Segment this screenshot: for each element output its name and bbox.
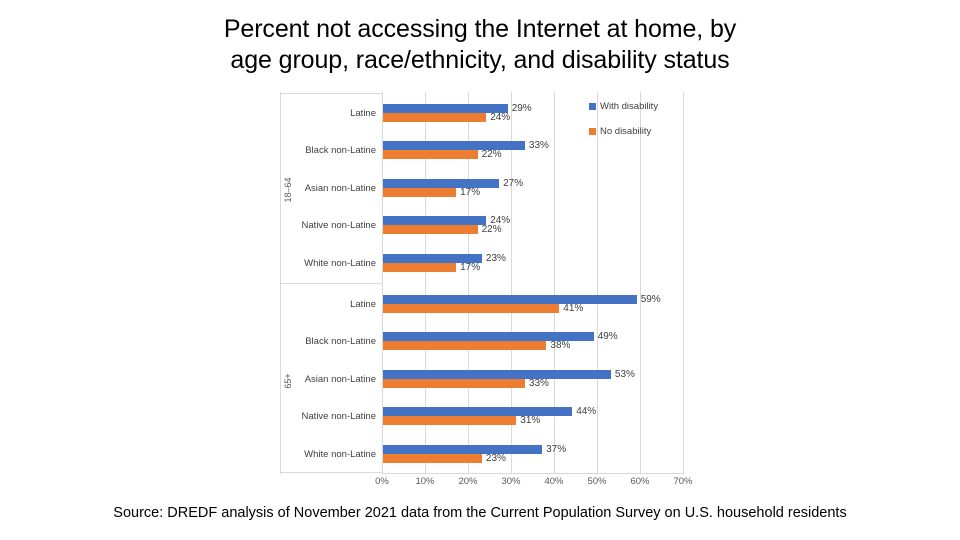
x-tick-label: 30% bbox=[501, 476, 520, 487]
bar-value-label: 17% bbox=[460, 187, 480, 198]
bar bbox=[383, 104, 508, 113]
bar-value-label: 49% bbox=[598, 331, 618, 342]
bar bbox=[383, 304, 559, 313]
bar-value-label: 37% bbox=[546, 444, 566, 455]
bar bbox=[383, 216, 486, 225]
bar-value-label: 33% bbox=[529, 378, 549, 389]
x-tick-label: 0% bbox=[375, 476, 389, 487]
category-label: Asian non-Latine bbox=[305, 374, 376, 385]
value-axis-ticks: 0%10%20%30%40%50%60%70% bbox=[382, 476, 683, 492]
legend-item[interactable]: With disability bbox=[589, 101, 699, 112]
group-label: 65+ bbox=[283, 373, 293, 388]
category-label: Black non-Latine bbox=[305, 145, 376, 156]
category-label: Latine bbox=[350, 299, 376, 310]
x-tick-label: 50% bbox=[587, 476, 606, 487]
legend-label: No disability bbox=[600, 126, 651, 137]
chart-legend: With disabilityNo disability bbox=[589, 101, 699, 151]
gridline-40 bbox=[554, 92, 555, 474]
bar bbox=[383, 341, 546, 350]
bar bbox=[383, 370, 611, 379]
x-tick-label: 60% bbox=[630, 476, 649, 487]
category-label: Native non-Latine bbox=[302, 220, 376, 231]
bar bbox=[383, 225, 478, 234]
page-title: Percent not accessing the Internet at ho… bbox=[0, 14, 960, 76]
bar bbox=[383, 113, 486, 122]
category-label: White non-Latine bbox=[304, 258, 376, 269]
bar bbox=[383, 150, 478, 159]
bar bbox=[383, 188, 456, 197]
bar-value-label: 31% bbox=[520, 415, 540, 426]
category-label: Asian non-Latine bbox=[305, 183, 376, 194]
bar-value-label: 27% bbox=[503, 178, 523, 189]
bar-value-label: 22% bbox=[482, 149, 502, 160]
bar-value-label: 44% bbox=[576, 406, 596, 417]
category-label: Native non-Latine bbox=[302, 411, 376, 422]
bar bbox=[383, 263, 456, 272]
bar bbox=[383, 379, 525, 388]
x-tick-label: 70% bbox=[673, 476, 692, 487]
bar-value-label: 24% bbox=[490, 112, 510, 123]
legend-label: With disability bbox=[600, 101, 658, 112]
bar-value-label: 29% bbox=[512, 103, 532, 114]
bar-value-label: 17% bbox=[460, 262, 480, 273]
group-separator-top bbox=[280, 93, 382, 94]
page-title-line-1: Percent not accessing the Internet at ho… bbox=[0, 14, 960, 45]
bar bbox=[383, 179, 499, 188]
source-note: Source: DREDF analysis of November 2021 … bbox=[0, 505, 960, 521]
bar bbox=[383, 416, 516, 425]
group-separator-middle bbox=[280, 283, 382, 284]
bar-value-label: 23% bbox=[486, 253, 506, 264]
x-tick-label: 40% bbox=[544, 476, 563, 487]
bar-value-label: 23% bbox=[486, 453, 506, 464]
category-label: Black non-Latine bbox=[305, 336, 376, 347]
bar bbox=[383, 141, 525, 150]
legend-swatch-icon bbox=[589, 128, 596, 135]
x-tick-label: 20% bbox=[458, 476, 477, 487]
bar-value-label: 22% bbox=[482, 224, 502, 235]
x-tick-label: 10% bbox=[415, 476, 434, 487]
legend-item[interactable]: No disability bbox=[589, 126, 699, 137]
category-label: White non-Latine bbox=[304, 449, 376, 460]
page-title-line-2: age group, race/ethnicity, and disabilit… bbox=[0, 45, 960, 76]
bar-value-label: 41% bbox=[563, 303, 583, 314]
bar-value-label: 59% bbox=[641, 294, 661, 305]
bar bbox=[383, 445, 542, 454]
bar-value-label: 53% bbox=[615, 369, 635, 380]
group-separator-bottom bbox=[280, 472, 382, 473]
bar-value-label: 33% bbox=[529, 140, 549, 151]
category-axis: LatineBlack non-LatineAsian non-LatineNa… bbox=[266, 92, 382, 474]
bar-value-label: 38% bbox=[550, 340, 570, 351]
bar bbox=[383, 407, 572, 416]
bar bbox=[383, 295, 637, 304]
group-label: 18–64 bbox=[283, 177, 293, 202]
bar bbox=[383, 454, 482, 463]
legend-swatch-icon bbox=[589, 103, 596, 110]
value-axis-baseline bbox=[382, 473, 683, 474]
category-label: Latine bbox=[350, 108, 376, 119]
